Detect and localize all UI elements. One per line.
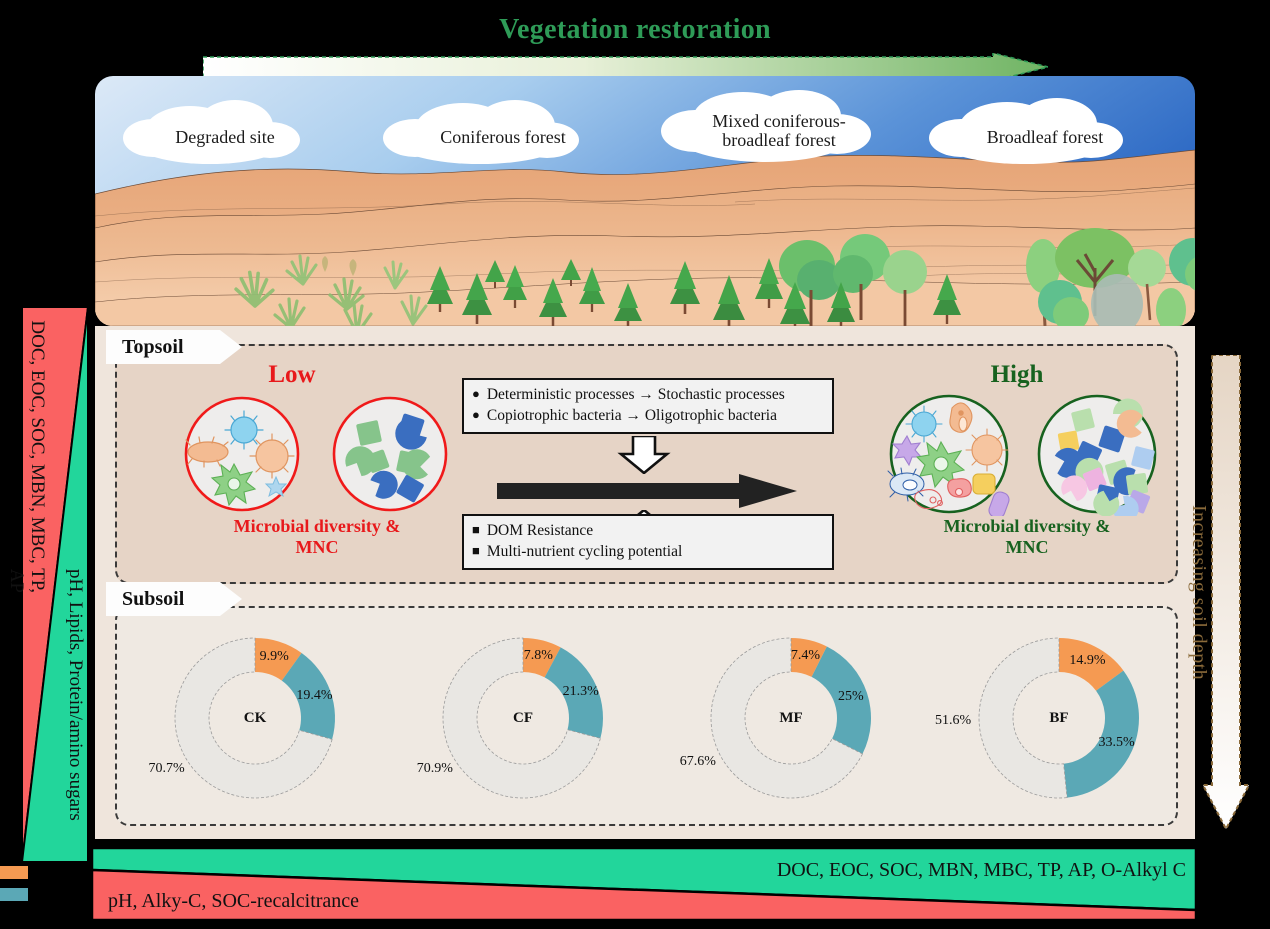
- left-gradient-wedges: DOC, EOC, SOC, MBN, MBC, TP, AP pH, Lipi…: [0, 307, 96, 862]
- bottom-wedge-green-label: DOC, EOC, SOC, MBN, MBC, TP, AP, O-Alkyl…: [777, 859, 1186, 882]
- topsoil-lower-textbox: ■ DOM Resistance ■ Multi-nutrient cyclin…: [462, 514, 834, 570]
- topsoil-high-label: High: [957, 360, 1077, 390]
- upper-box-text-1: Deterministic processes → Stochastic pro…: [487, 384, 785, 405]
- legend-color-chips: [0, 866, 30, 910]
- page-title: Vegetation restoration: [0, 14, 1270, 46]
- lower-box-row-2: ■ Multi-nutrient cycling potential: [472, 541, 824, 562]
- left-wedge-red-label: DOC, EOC, SOC, MBN, MBC, TP, AP: [5, 313, 48, 593]
- donut-value-label-gray: 51.6%: [929, 713, 977, 729]
- cloud-shapes: [95, 76, 1195, 326]
- upper-box-row-2: ● Copiotrophic bacteria → Oligotrophic b…: [472, 405, 824, 426]
- donut-chart-ck: CK9.9%19.4%70.7%: [159, 622, 351, 814]
- lower-box-text-2: Multi-nutrient cycling potential: [487, 541, 682, 562]
- donut-value-label-gray: 70.7%: [143, 761, 191, 777]
- donut-value-label-teal: 25%: [827, 689, 875, 705]
- cloud-label-coniferous: Coniferous forest: [408, 128, 598, 147]
- cloud-label-degraded: Degraded site: [140, 128, 310, 147]
- bottom-wedge-red-label: pH, Alky-C, SOC-recalcitrance: [108, 890, 359, 913]
- cloud-label-mixed: Mixed coniferous- broadleaf forest: [686, 112, 872, 150]
- topsoil-banner: Topsoil: [106, 330, 242, 364]
- donut-value-label-teal: 21.3%: [557, 684, 605, 700]
- upper-box-text-2: Copiotrophic bacteria → Oligotrophic bac…: [487, 405, 777, 426]
- subsoil-panel: CK9.9%19.4%70.7%CF7.8%21.3%70.9%MF7.4%25…: [115, 606, 1178, 826]
- square-bullet-icon: ■: [472, 523, 480, 536]
- cloud-label-broadleaf: Broadleaf forest: [952, 128, 1138, 147]
- donut-value-label-teal: 19.4%: [290, 688, 338, 704]
- left-wedge-green-label: pH, Lipids, Protein/amino sugars: [64, 569, 86, 859]
- donut-chart-bf: BF14.9%33.5%51.6%: [963, 622, 1155, 814]
- transition-arrow-icon: [497, 474, 797, 508]
- donut-chart-mf: MF7.4%25%67.6%: [695, 622, 887, 814]
- donut-value-label-orange: 7.4%: [782, 648, 830, 664]
- bullet-icon: ●: [472, 387, 480, 400]
- bullet-icon: ●: [472, 408, 480, 421]
- bottom-gradient-wedges: DOC, EOC, SOC, MBN, MBC, TP, AP, O-Alkyl…: [92, 848, 1196, 920]
- legend-chip-orange: [0, 866, 28, 879]
- donut-value-label-teal: 33.5%: [1093, 735, 1141, 751]
- increasing-soil-depth-arrow: [1203, 355, 1249, 830]
- donut-value-label-gray: 67.6%: [674, 754, 722, 770]
- square-bullet-icon: ■: [472, 544, 480, 557]
- topsoil-low-caption: Microbial diversity & MNC: [167, 516, 467, 558]
- donut-value-label-orange: 7.8%: [514, 648, 562, 664]
- landscape-illustration: [95, 76, 1195, 326]
- donut-center-label: BF: [963, 622, 1155, 814]
- donut-chart-cf: CF7.8%21.3%70.9%: [427, 622, 619, 814]
- lower-box-text-1: DOM Resistance: [487, 520, 593, 541]
- lower-box-row-1: ■ DOM Resistance: [472, 520, 824, 541]
- high-diversity-dishes: [879, 392, 1169, 516]
- topsoil-panel: Low: [115, 344, 1178, 584]
- donut-value-label-orange: 9.9%: [250, 649, 298, 665]
- topsoil-low-label: Low: [232, 360, 352, 390]
- graphical-abstract: Vegetation restoration: [0, 0, 1270, 929]
- donut-value-label-gray: 70.9%: [411, 761, 459, 777]
- subsoil-banner: Subsoil: [106, 582, 242, 616]
- legend-chip-teal: [0, 888, 28, 901]
- donut-value-label-orange: 14.9%: [1063, 653, 1111, 669]
- low-diversity-dishes: [172, 394, 462, 514]
- soil-section: Low: [95, 326, 1195, 839]
- upper-box-row-1: ● Deterministic processes → Stochastic p…: [472, 384, 824, 405]
- topsoil-upper-textbox: ● Deterministic processes → Stochastic p…: [462, 378, 834, 434]
- hollow-arrow-down-icon: [617, 436, 671, 474]
- topsoil-high-caption: Microbial diversity & MNC: [877, 516, 1177, 558]
